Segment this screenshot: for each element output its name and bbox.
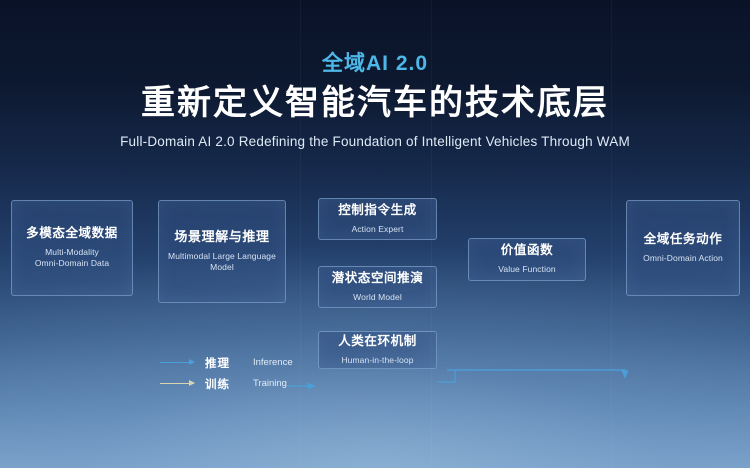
page-title: 重新定义智能汽车的技术底层 (0, 84, 750, 123)
legend-label-cn: 推理 (205, 355, 245, 371)
node-title-cn: 价值函数 (501, 243, 553, 259)
legend-label-cn: 训练 (205, 376, 245, 392)
page-subtitle: Full-Domain AI 2.0 Redefining the Founda… (0, 134, 750, 149)
node-title-cn: 潜状态空间推演 (332, 271, 424, 287)
eyebrow-title: 全域AI 2.0 (0, 52, 750, 75)
node-value-function[interactable]: 价值函数 Value Function (468, 238, 586, 281)
legend-item-training: 训练 Training (160, 373, 293, 394)
node-title-cn: 人类在环机制 (338, 334, 417, 350)
node-title-cn: 场景理解与推理 (174, 229, 269, 245)
node-title-cn: 全域任务动作 (644, 232, 723, 248)
node-title-cn: 多模态全域数据 (26, 226, 118, 242)
node-title-en: Action Expert (352, 224, 404, 235)
node-multimodal-large-language-model[interactable]: 场景理解与推理 Multimodal Large Language Model (158, 200, 286, 303)
node-title-en: World Model (353, 292, 402, 303)
node-title-en: Multimodal Large Language Model (168, 251, 276, 274)
slide-canvas: 全域AI 2.0 重新定义智能汽车的技术底层 Full-Domain AI 2.… (0, 0, 750, 468)
inference-arrow-icon (160, 362, 194, 363)
node-omni-domain-action[interactable]: 全域任务动作 Omni-Domain Action (626, 200, 740, 296)
node-title-cn: 控制指令生成 (338, 203, 417, 219)
legend-label-en: Training (253, 378, 287, 389)
node-multimodal-omni-domain-data[interactable]: 多模态全域数据 Multi-Modality Omni-Domain Data (11, 200, 133, 296)
node-title-en: Omni-Domain Action (643, 253, 723, 264)
training-arrow-icon (160, 383, 194, 384)
node-title-en: Multi-Modality Omni-Domain Data (35, 247, 109, 270)
architecture-diagram: 多模态全域数据 Multi-Modality Omni-Domain Data … (0, 180, 750, 400)
diagram-legend: 推理 Inference 训练 Training (160, 352, 293, 394)
legend-item-inference: 推理 Inference (160, 352, 293, 373)
node-world-model[interactable]: 潜状态空间推演 World Model (318, 266, 437, 308)
node-human-in-the-loop[interactable]: 人类在环机制 Human-in-the-loop (318, 331, 437, 369)
slide-header: 全域AI 2.0 重新定义智能汽车的技术底层 Full-Domain AI 2.… (0, 52, 750, 149)
node-action-expert[interactable]: 控制指令生成 Action Expert (318, 198, 437, 240)
node-title-en: Human-in-the-loop (341, 355, 413, 366)
node-title-en: Value Function (498, 264, 555, 275)
legend-label-en: Inference (253, 357, 293, 368)
